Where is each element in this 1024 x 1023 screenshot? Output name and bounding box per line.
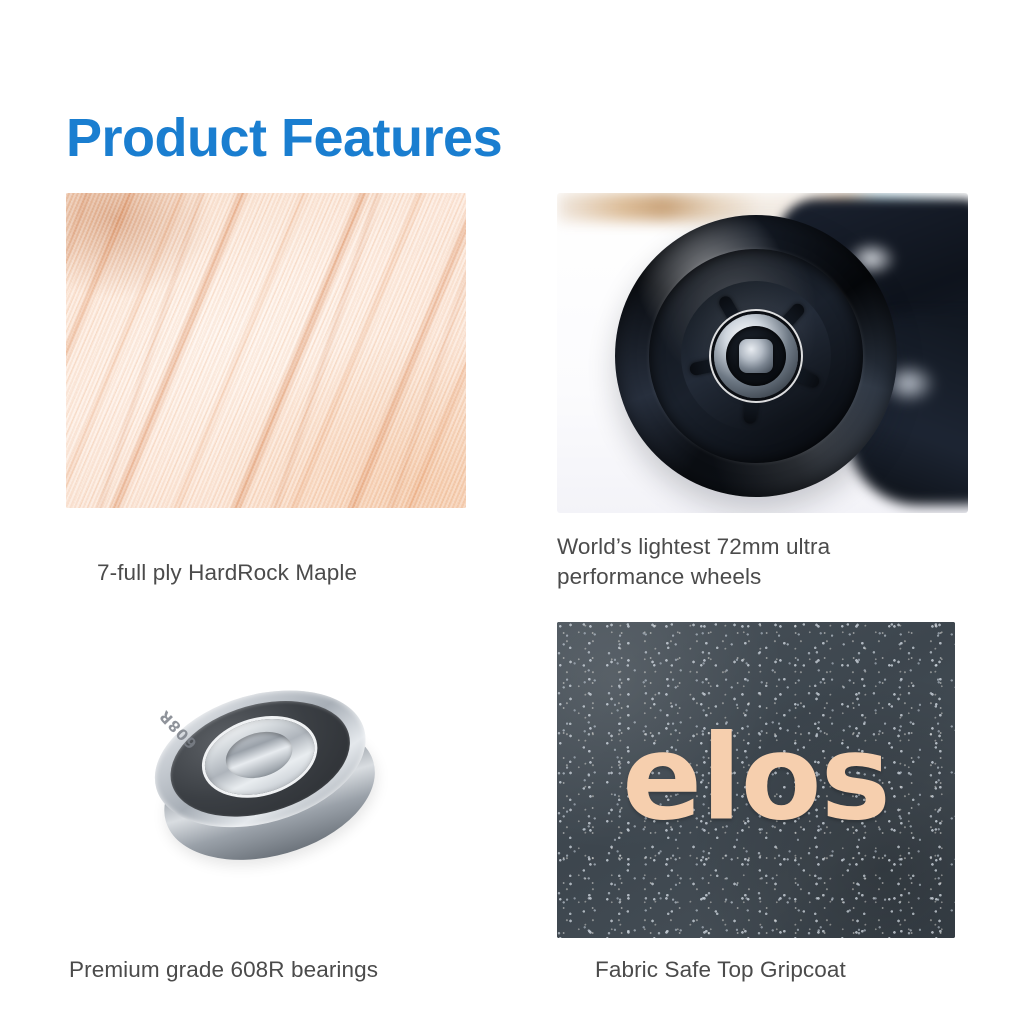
feature-card-maple <box>66 193 466 508</box>
caption-bearings: Premium grade 608R bearings <box>69 955 489 985</box>
maple-wood-grain-image <box>66 193 466 508</box>
wheel-bearing-face <box>726 326 786 386</box>
caption-wheels: World’s lightest 72mm ultra performance … <box>557 532 957 592</box>
gripcoat-image: elos <box>557 622 955 938</box>
product-features-page: Product Features 7-full ply HardRock Map… <box>0 0 1024 1023</box>
caption-maple: 7-full ply HardRock Maple <box>97 558 477 588</box>
wood-texture <box>66 193 466 508</box>
wheel-bearing-ring <box>714 314 798 398</box>
bearing-photo: 608R <box>66 622 466 938</box>
skateboard-wheel-image <box>557 193 968 513</box>
feature-card-bearings: 608R <box>66 622 466 938</box>
elos-wordmark: elos <box>557 719 955 837</box>
caption-gripcoat: Fabric Safe Top Gripcoat <box>595 955 995 985</box>
wheel-photo <box>557 193 968 513</box>
axle-nut <box>739 339 773 373</box>
bearing-body: 608R <box>139 668 393 891</box>
bearing-image: 608R <box>66 622 466 938</box>
gripcoat-surface: elos <box>557 622 955 938</box>
page-title: Product Features <box>66 110 502 167</box>
bearing-marking-text: 608R <box>155 706 201 752</box>
feature-card-gripcoat: elos <box>557 622 955 938</box>
wheel-tire <box>615 215 897 497</box>
feature-card-wheels <box>557 193 968 513</box>
